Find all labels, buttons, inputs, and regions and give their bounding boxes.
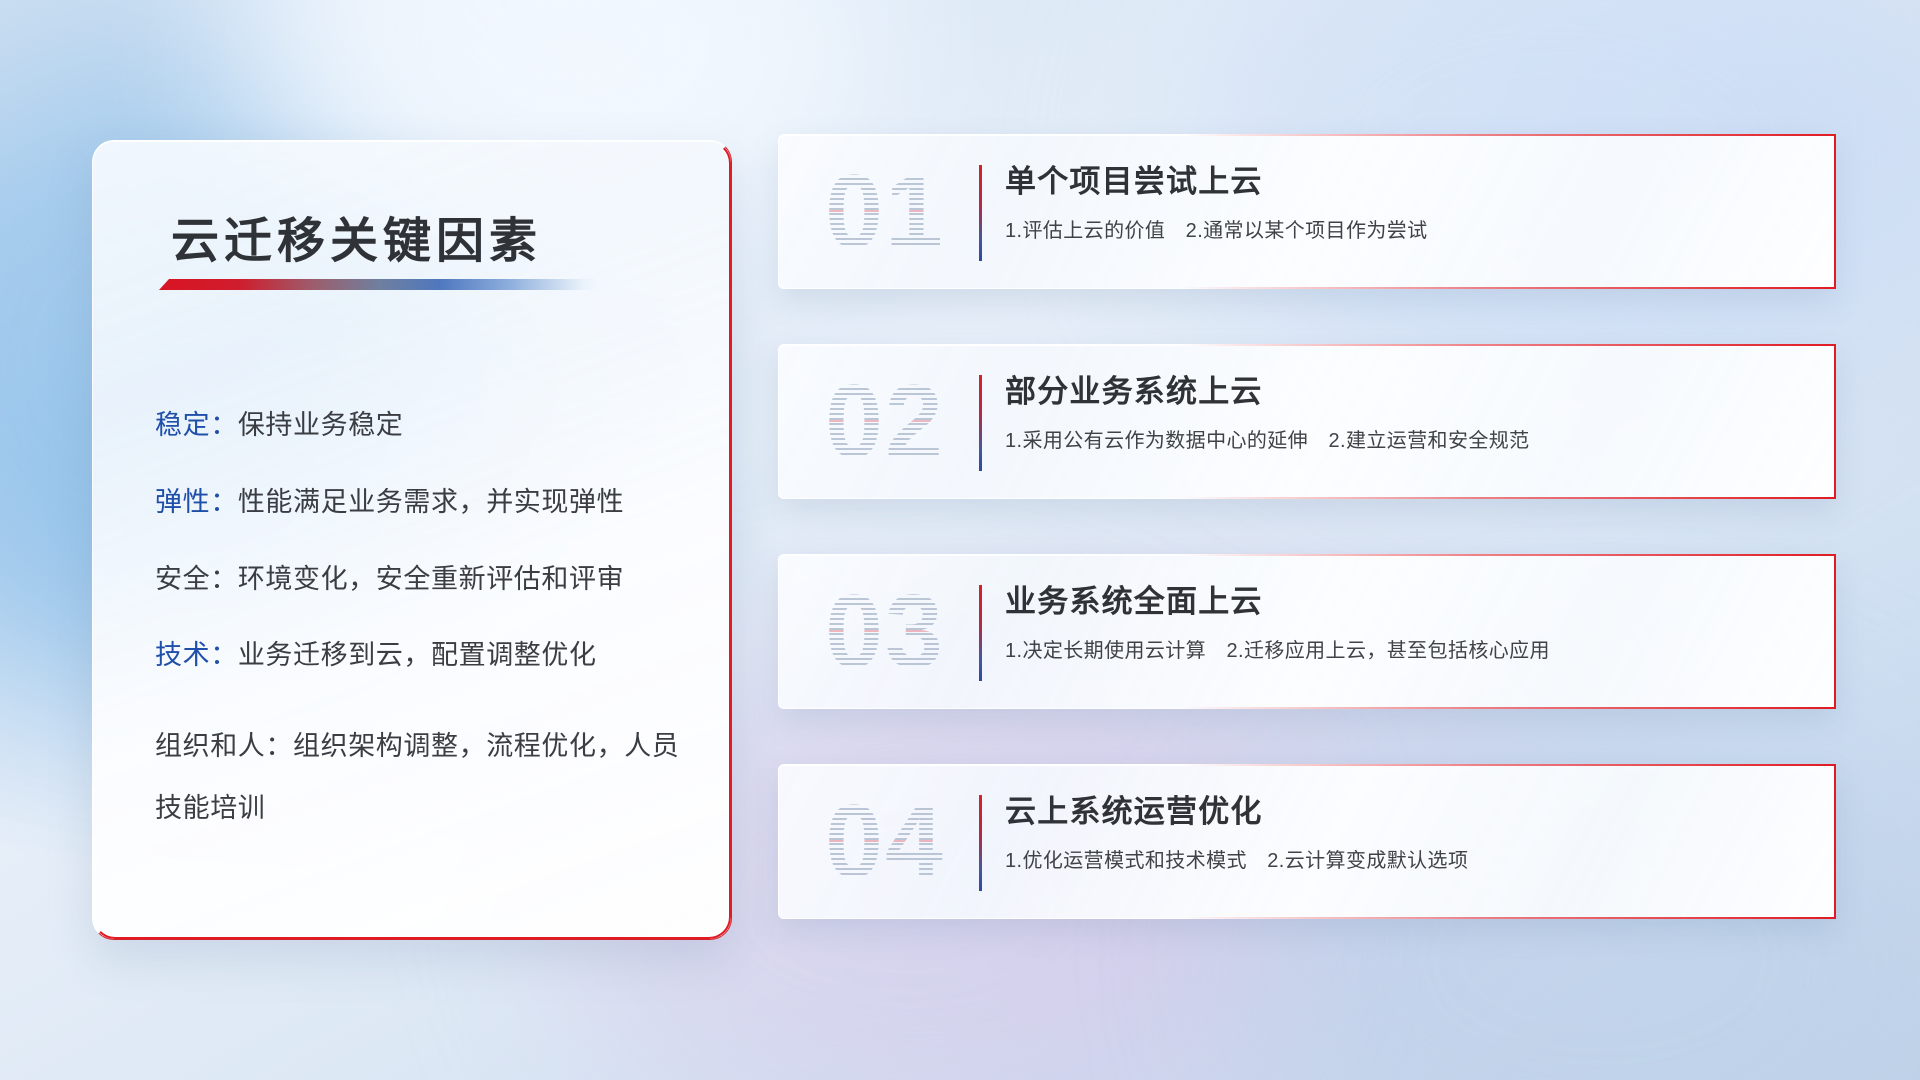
- step-card-03[interactable]: 03 03 业务系统全面上云 1.决定长期使用云计算 2.迁移应用上云，甚至包括…: [778, 554, 1836, 709]
- list-item: 安全：环境变化，安全重新评估和评审: [155, 563, 695, 597]
- factor-text: 环境变化，安全重新评估和评审: [238, 564, 624, 594]
- title-underline-accent: [159, 279, 599, 290]
- factor-label: 组织和人：: [155, 731, 293, 761]
- factor-text: 保持业务稳定: [238, 410, 404, 440]
- page-title: 云迁移关键因素: [171, 201, 542, 271]
- list-item: 稳定：保持业务稳定: [155, 409, 695, 443]
- factor-list: 稳定：保持业务稳定 弹性：性能满足业务需求，并实现弹性 安全：环境变化，安全重新…: [155, 409, 695, 839]
- step-title: 业务系统全面上云: [1005, 583, 1811, 622]
- step-card-04[interactable]: 04 04 云上系统运营优化 1.优化运营模式和技术模式 2.云计算变成默认选项: [778, 764, 1836, 919]
- step-number-glyph: 03: [805, 568, 965, 696]
- list-item: 技术：业务迁移到云，配置调整优化: [155, 639, 695, 673]
- step-description: 1.决定长期使用云计算 2.迁移应用上云，甚至包括核心应用: [1005, 638, 1811, 664]
- step-body: 云上系统运营优化 1.优化运营模式和技术模式 2.云计算变成默认选项: [1005, 793, 1811, 874]
- list-item: 组织和人：组织架构调整，流程优化，人员技能培训: [155, 716, 695, 839]
- factor-text: 业务迁移到云，配置调整优化: [238, 640, 597, 670]
- step-description: 1.优化运营模式和技术模式 2.云计算变成默认选项: [1005, 848, 1811, 874]
- key-factors-card: 云迁移关键因素 稳定：保持业务稳定 弹性：性能满足业务需求，并实现弹性 安全：环…: [92, 140, 732, 940]
- step-number-glyph: 04: [805, 778, 965, 906]
- step-number-glyph: 01: [805, 148, 965, 276]
- list-item: 弹性：性能满足业务需求，并实现弹性: [155, 486, 695, 520]
- step-card-01[interactable]: 01 01 单个项目尝试上云 1.评估上云的价值 2.通常以某个项目作为尝试: [778, 134, 1836, 289]
- step-divider: [979, 795, 982, 891]
- step-body: 部分业务系统上云 1.采用公有云作为数据中心的延伸 2.建立运营和安全规范: [1005, 373, 1811, 454]
- step-description: 1.采用公有云作为数据中心的延伸 2.建立运营和安全规范: [1005, 428, 1811, 454]
- step-body: 单个项目尝试上云 1.评估上云的价值 2.通常以某个项目作为尝试: [1005, 163, 1811, 244]
- step-title: 单个项目尝试上云: [1005, 163, 1811, 202]
- factor-label: 技术：: [155, 640, 238, 670]
- step-body: 业务系统全面上云 1.决定长期使用云计算 2.迁移应用上云，甚至包括核心应用: [1005, 583, 1811, 664]
- step-divider: [979, 165, 982, 261]
- factor-label: 弹性：: [155, 487, 238, 517]
- step-title: 云上系统运营优化: [1005, 793, 1811, 832]
- step-divider: [979, 375, 982, 471]
- step-card-02[interactable]: 02 02 部分业务系统上云 1.采用公有云作为数据中心的延伸 2.建立运营和安…: [778, 344, 1836, 499]
- factor-label: 安全：: [155, 564, 238, 594]
- step-title: 部分业务系统上云: [1005, 373, 1811, 412]
- factor-text: 性能满足业务需求，并实现弹性: [238, 487, 624, 517]
- step-description: 1.评估上云的价值 2.通常以某个项目作为尝试: [1005, 218, 1811, 244]
- factor-label: 稳定：: [155, 410, 238, 440]
- slide-canvas: 云迁移关键因素 稳定：保持业务稳定 弹性：性能满足业务需求，并实现弹性 安全：环…: [0, 0, 1920, 1080]
- step-number-glyph: 02: [805, 358, 965, 486]
- step-divider: [979, 585, 982, 681]
